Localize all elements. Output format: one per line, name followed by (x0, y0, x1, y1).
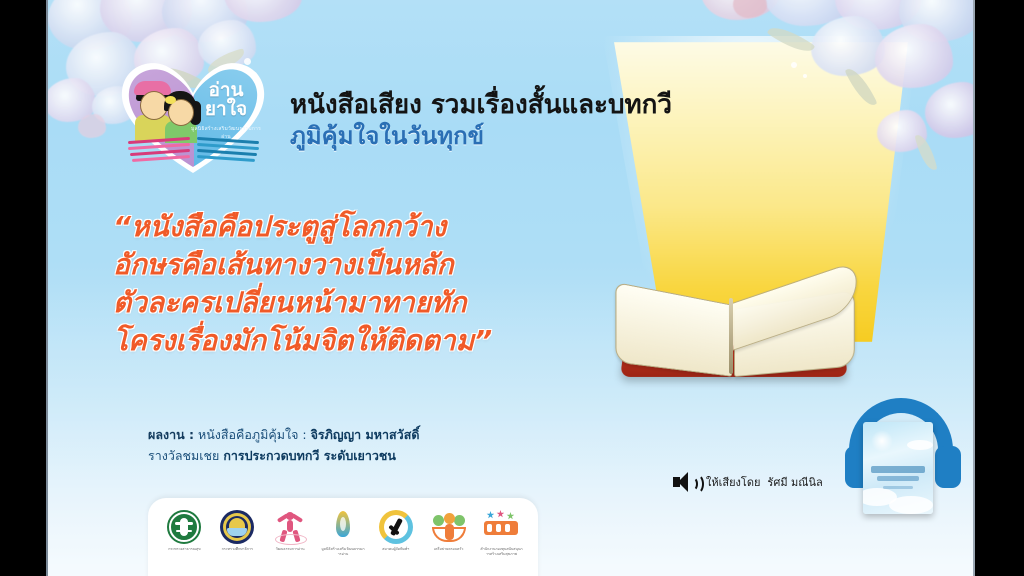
cover-title-line-1 (871, 466, 925, 473)
sponsor-family-network-foundation: เครือข่ายครอบครัว (427, 510, 471, 552)
checkmark-circle-icon (379, 510, 413, 544)
audiobook-headphones-graphic (843, 398, 963, 516)
credit-line-1: ผลงาน : หนังสือคือภูมิคุ้มใจ : จิรภิญญา … (148, 424, 568, 445)
dancing-figure-icon (273, 510, 307, 544)
headphone-cup-right (935, 446, 961, 488)
ministry-of-education-icon (220, 510, 254, 544)
slide-edge-right (973, 0, 975, 576)
sponsor-caption: กระทรวงศึกษาธิการ (215, 547, 259, 552)
headline-block: หนังสือเสียง รวมเรื่องสั้นและบทกวี ภูมิค… (290, 88, 760, 152)
letterbox-right (975, 0, 1024, 576)
sponsor-reading-culture-foundation: มูลนิธิสร้างเสริมวัฒนธรรมการอ่าน (321, 510, 365, 556)
sponsor-caption: เครือข่ายครอบครัว (427, 547, 471, 552)
sponsor-thaihealth-sss: สำนักงานกองทุนสนับสนุนการสร้างเสริมสุขภา… (479, 510, 523, 556)
speaker-icon (673, 472, 699, 492)
book-spine (729, 298, 733, 374)
family-figures-icon (432, 510, 466, 544)
slide-edge-left (46, 0, 48, 576)
narrator-credit: ให้เสียงโดย รัศมี มณีนิล (673, 472, 823, 492)
brand-logo-arn-ya-jai: อ่าน ยาใจ มูลนิธิสร้างเสริมวัฒนธรรมการอ่… (116, 55, 271, 175)
thaihealth-sss-icon (484, 510, 518, 544)
letterbox-left (0, 0, 46, 576)
sun-glow (871, 430, 893, 452)
credit-separator: : (302, 427, 306, 442)
poem-block: “หนังสือคือประตูสู่โลกกว้าง อักษรคือเส้น… (113, 208, 563, 360)
poem-line: “หนังสือคือประตูสู่โลกกว้าง (113, 208, 563, 246)
credit-block: ผลงาน : หนังสือคือภูมิคุ้มใจ : จิรภิญญา … (148, 424, 568, 466)
ministry-of-public-health-icon (167, 510, 201, 544)
girl-bow-icon (165, 96, 176, 104)
sponsor-thai-health-promotion-kid: วัฒนธรรมการอ่าน (268, 510, 312, 552)
credit-work-title: หนังสือคือภูมิคุ้มใจ (198, 427, 298, 442)
sponsor-reading-association-of-thailand: สมาคมผู้จัดพิมพ์ฯ (374, 510, 418, 552)
open-book-illustration (603, 278, 868, 398)
poem-line: ตัวละครเปลี่ยนหน้ามาทายทัก (113, 284, 563, 322)
credit-award: รางวัลชมเชย (148, 448, 219, 463)
cover-title-line-2 (877, 476, 919, 481)
poem-line: โครงเรื่องมักโน้มจิตให้ติดตาม” (113, 322, 563, 360)
logo-wordmark: อ่าน ยาใจ (187, 81, 265, 119)
sponsor-caption: สำนักงานกองทุนสนับสนุนการสร้างเสริมสุขภา… (479, 547, 523, 556)
sponsor-ministry-of-education: กระทรวงศึกษาธิการ (215, 510, 259, 552)
sponsor-logo-panel: กระทรวงสาธารณสุข กระทรวงศึกษาธิการ (148, 498, 538, 576)
open-book-pages (128, 139, 259, 169)
narrator-label: ให้เสียงโดย (706, 473, 760, 491)
credit-line-2: รางวัลชมเชย การประกวดบทกวี ระดับเยาวชน (148, 445, 568, 466)
headline-line-2: ภูมิคุ้มใจในวันทุกข์ (290, 120, 760, 152)
slide-stage: อ่าน ยาใจ มูลนิธิสร้างเสริมวัฒนธรรมการอ่… (0, 0, 1024, 576)
credit-label: ผลงาน : (148, 427, 194, 442)
book-page-left (615, 282, 732, 377)
audiobook-cover (863, 422, 933, 514)
credit-author: จิรภิญญา มหาสวัสดิ์ (311, 427, 420, 442)
flame-leaf-icon (326, 510, 360, 544)
sponsor-caption: สมาคมผู้จัดพิมพ์ฯ (374, 547, 418, 552)
credit-contest: การประกวดบทกวี ระดับเยาวชน (223, 448, 396, 463)
headline-line-1: หนังสือเสียง รวมเรื่องสั้นและบทกวี (290, 88, 760, 122)
cover-subtitle (883, 486, 913, 489)
sponsor-caption: วัฒนธรรมการอ่าน (268, 547, 312, 552)
slide-canvas: อ่าน ยาใจ มูลนิธิสร้างเสริมวัฒนธรรมการอ่… (48, 0, 973, 576)
sponsor-logo-row: กระทรวงสาธารณสุข กระทรวงศึกษาธิการ (148, 510, 538, 556)
narrator-name: รัศมี มณีนิล (767, 473, 822, 491)
sponsor-caption: กระทรวงสาธารณสุข (162, 547, 206, 552)
sponsor-caption: มูลนิธิสร้างเสริมวัฒนธรรมการอ่าน (321, 547, 365, 556)
sponsor-ministry-of-public-health: กระทรวงสาธารณสุข (162, 510, 206, 552)
poem-line: อักษรคือเส้นทางวางเป็นหลัก (113, 246, 563, 284)
